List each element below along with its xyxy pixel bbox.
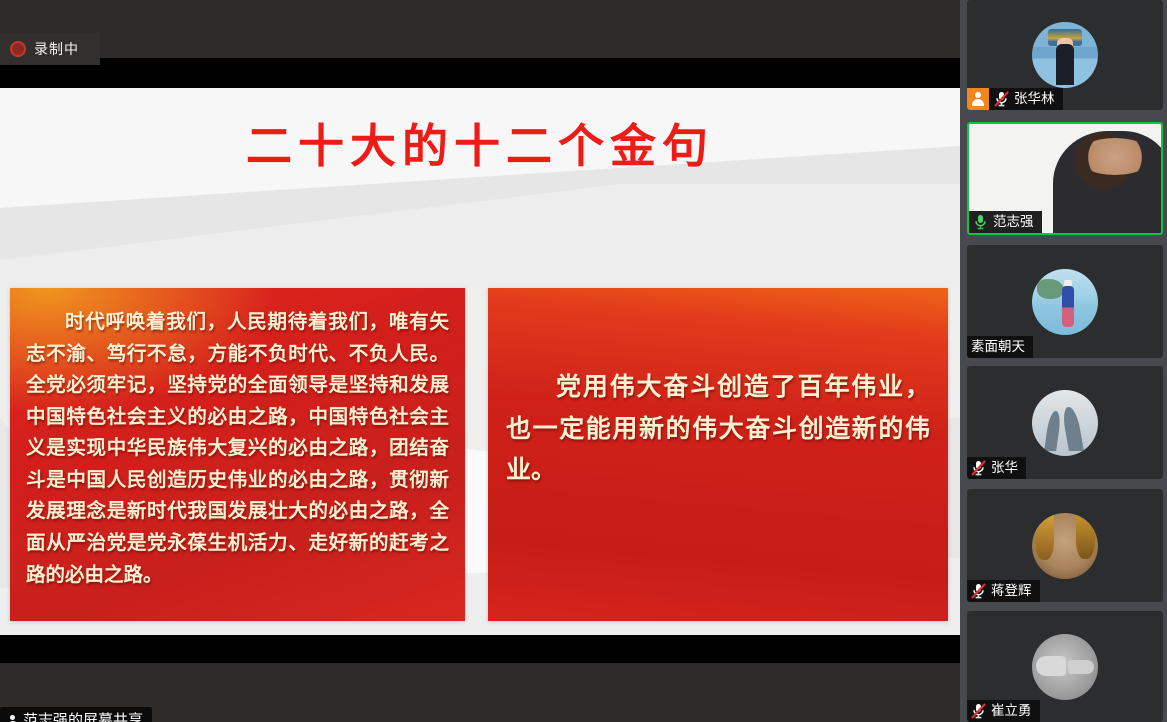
mic-muted-icon[interactable]	[971, 460, 986, 476]
participant-name: 张华	[991, 461, 1018, 475]
quote-card-right: 党用伟大奋斗创造了百年伟业，也一定能用新的伟大奋斗创造新的伟业。	[488, 288, 948, 621]
participant-name: 蒋登辉	[991, 584, 1032, 598]
participant-name: 张华林	[1014, 92, 1055, 106]
quote-right-text: 党用伟大奋斗创造了百年伟业，也一定能用新的伟大奋斗创造新的伟业。	[488, 288, 948, 501]
person-icon	[7, 715, 18, 722]
presentation-slide[interactable]: 二十大的十二个金句 时代呼唤着我们，人民期待着我们，唯有矢志不渝、笃行不怠，方能…	[0, 88, 960, 635]
slide-title: 二十大的十二个金句	[0, 110, 960, 176]
nameplate: 张华	[967, 457, 1026, 479]
nameplate: 范志强	[969, 211, 1042, 233]
quote-card-left: 时代呼唤着我们，人民期待着我们，唯有矢志不渝、笃行不怠，方能不负时代、不负人民。…	[10, 288, 465, 621]
mic-active-icon[interactable]	[973, 214, 988, 230]
participant-tile[interactable]: 张华林	[967, 0, 1163, 110]
participant-name: 范志强	[993, 215, 1034, 229]
participant-name: 崔立勇	[991, 704, 1032, 718]
top-chrome-bar	[0, 0, 960, 58]
presenter-share-label: 范志强的屏幕共享	[0, 707, 152, 722]
participant-tile[interactable]: 张华	[967, 366, 1163, 479]
letterbox-bottom	[0, 635, 960, 663]
letterbox-top	[0, 58, 960, 88]
host-badge-icon	[967, 88, 989, 110]
participant-name: 素面朝天	[971, 340, 1025, 354]
nameplate: 张华林	[967, 88, 1063, 110]
participant-tile[interactable]: 范志强	[967, 122, 1163, 235]
nameplate: 素面朝天	[967, 336, 1033, 358]
participant-tile[interactable]: 蒋登辉	[967, 489, 1163, 602]
quote-left-text: 时代呼唤着我们，人民期待着我们，唯有矢志不渝、笃行不怠，方能不负时代、不负人民。…	[10, 288, 465, 600]
record-dot-icon	[10, 41, 26, 57]
nameplate: 蒋登辉	[967, 580, 1040, 602]
shared-screen-region: 录制中 二十大的十二个金句	[0, 0, 960, 722]
recording-label: 录制中	[34, 39, 79, 59]
meeting-window: 录制中 二十大的十二个金句	[0, 0, 1167, 722]
presenter-share-text: 范志强的屏幕共享	[23, 713, 143, 722]
recording-indicator[interactable]: 录制中	[0, 33, 100, 65]
nameplate: 崔立勇	[967, 700, 1040, 722]
mic-muted-icon[interactable]	[971, 703, 986, 719]
mic-muted-icon[interactable]	[994, 91, 1009, 107]
participant-tile[interactable]: 崔立勇	[967, 611, 1163, 722]
mic-muted-icon[interactable]	[971, 583, 986, 599]
participant-tile[interactable]: 素面朝天	[967, 245, 1163, 358]
participant-filmstrip[interactable]: 张华林范志强素面朝天张华蒋登辉崔立勇	[960, 0, 1167, 722]
